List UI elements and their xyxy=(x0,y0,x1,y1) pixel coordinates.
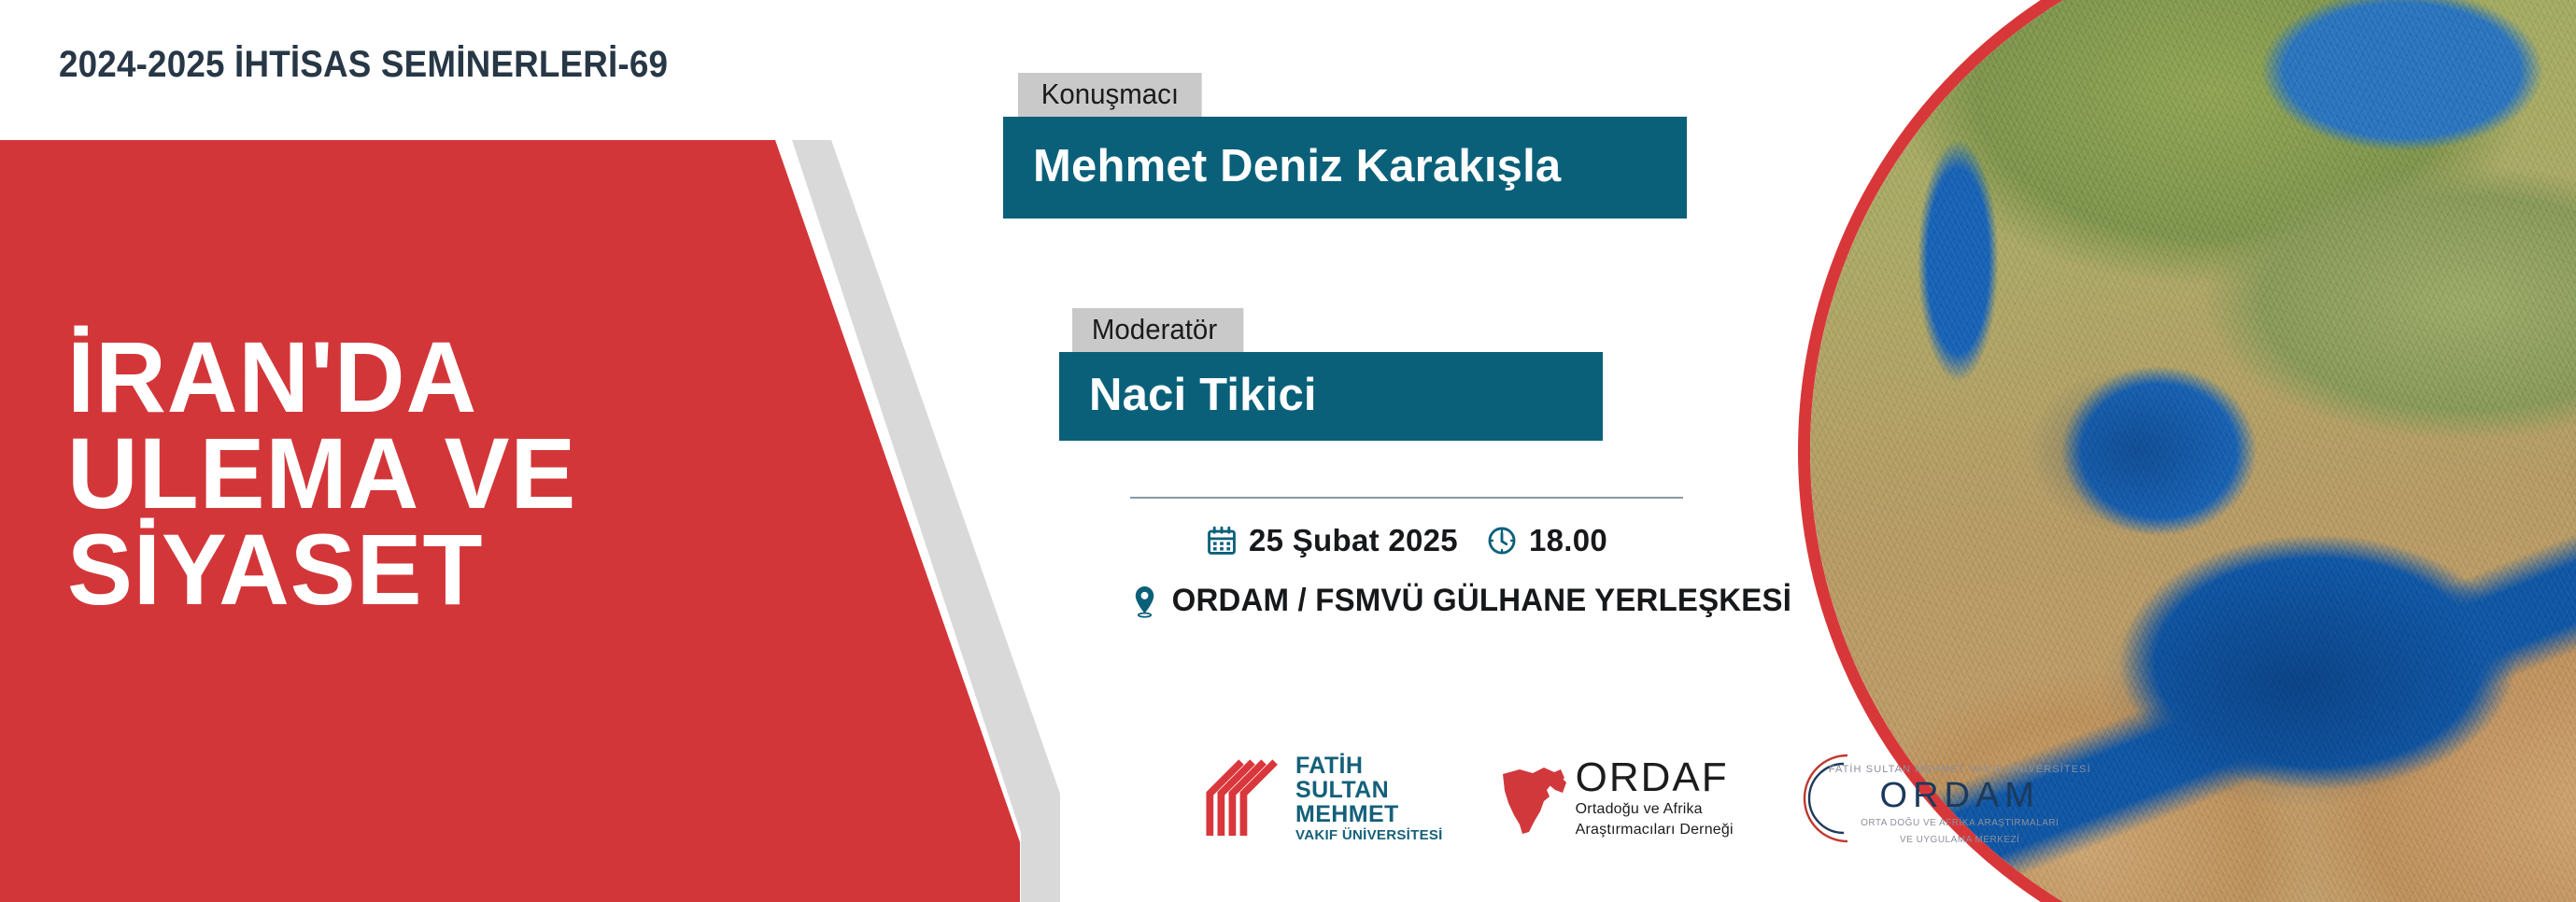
ordam-logo-text: FATİH SULTAN MEHMET VAKIF ÜNİVERSİTESİ O… xyxy=(1829,765,2091,846)
calendar-icon xyxy=(1206,525,1238,557)
event-banner: 2024-2025 İHTİSAS SEMİNERLERİ-69 İRAN'DA… xyxy=(0,0,2576,902)
fsmvu-logo-text: FATİH SULTAN MEHMET VAKIF ÜNİVERSİTESİ xyxy=(1295,754,1443,843)
seminar-series-kicker: 2024-2025 İHTİSAS SEMİNERLERİ-69 xyxy=(59,44,668,86)
fsmvu-logo: FATİH SULTAN MEHMET VAKIF ÜNİVERSİTESİ xyxy=(1200,754,1443,843)
event-date: 25 Şubat 2025 xyxy=(1249,523,1458,558)
ordam-sub-1: ORTA DOĞU VE AFRİKA ARAŞTIRMALARI xyxy=(1829,817,2091,830)
fsmvu-line-3: MEHMET xyxy=(1295,802,1443,826)
ordam-title: ORDAM xyxy=(1829,778,2091,813)
title-line-1: İRAN'DA xyxy=(67,329,576,425)
page-title: İRAN'DA ULEMA VE SİYASET xyxy=(67,329,576,617)
details-divider xyxy=(1130,497,1683,499)
fsmvu-line-1: FATİH xyxy=(1295,754,1443,778)
moderator-block: Moderatör Naci Tikici xyxy=(1059,308,1773,441)
ordam-sub-2: VE UYGULAMA MERKEZİ xyxy=(1829,834,2091,847)
title-line-3: SİYASET xyxy=(67,521,576,617)
title-line-2: ULEMA VE xyxy=(67,425,576,521)
ordam-top-text: FATİH SULTAN MEHMET VAKIF ÜNİVERSİTESİ xyxy=(1829,765,2091,775)
moderator-name: Naci Tikici xyxy=(1059,352,1603,441)
ordaf-title: ORDAF xyxy=(1576,757,1734,798)
ordaf-logo-text: ORDAF Ortadoğu ve Afrika Araştırmacıları… xyxy=(1576,757,1734,839)
event-location: ORDAM / FSMVÜ GÜLHANE YERLEŞKESİ xyxy=(1172,583,1791,619)
center-content-column: Konuşmacı Mehmet Deniz Karakışla Moderat… xyxy=(988,73,1773,619)
moderator-role-label: Moderatör xyxy=(1072,308,1244,352)
speaker-role-label: Konuşmacı xyxy=(1018,73,1202,117)
location-item: ORDAM / FSMVÜ GÜLHANE YERLEŞKESİ xyxy=(1130,583,1683,619)
event-time: 18.00 xyxy=(1529,523,1607,558)
fsmvu-emblem-icon xyxy=(1200,758,1281,839)
speaker-name: Mehmet Deniz Karakışla xyxy=(1003,117,1687,218)
date-time-row: 25 Şubat 2025 18.00 xyxy=(1130,523,1683,558)
fsmvu-line-2: SULTAN xyxy=(1295,778,1443,802)
africa-middle-east-map-icon xyxy=(1495,759,1570,838)
clock-icon xyxy=(1486,525,1518,557)
map-pin-icon xyxy=(1130,585,1159,618)
logo-row: FATİH SULTAN MEHMET VAKIF ÜNİVERSİTESİ O… xyxy=(1200,752,2001,845)
date-item: 25 Şubat 2025 xyxy=(1206,523,1458,558)
time-item: 18.00 xyxy=(1486,523,1607,558)
ordam-logo: FATİH SULTAN MEHMET VAKIF ÜNİVERSİTESİ O… xyxy=(1786,752,2001,845)
ordaf-sub-1: Ortadoğu ve Afrika xyxy=(1576,801,1734,819)
fsmvu-line-4: VAKIF ÜNİVERSİTESİ xyxy=(1295,828,1443,843)
ordaf-sub-2: Araştırmacıları Derneği xyxy=(1576,822,1734,839)
ordaf-logo: ORDAF Ortadoğu ve Afrika Araştırmacıları… xyxy=(1495,757,1734,839)
speaker-block: Konuşmacı Mehmet Deniz Karakışla xyxy=(1003,73,1773,218)
